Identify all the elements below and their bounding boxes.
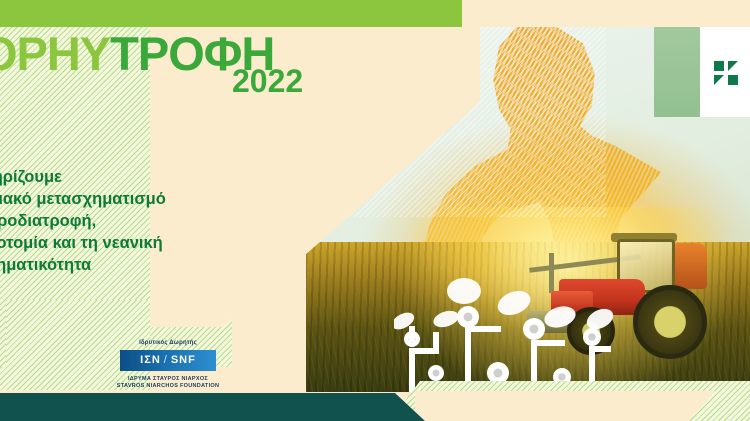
top-green-bar-tail [456, 0, 462, 27]
tagline-block: οστηρίζουμε ψηφιακό μετασχηματισμό ν αγρ… [0, 166, 166, 276]
tagline-line-4: καινοτομία και τη νεανική [0, 232, 166, 254]
founding-donor-block: Ιδρυτικός Δωρητής ΙΣΝ/SNF ΙΔΡΥΜΑ ΣΤΑΥΡΟΣ… [113, 340, 223, 389]
tagline-line-5: χειρηματικότητα [0, 254, 166, 276]
tagline-line-2: ψηφιακό μετασχηματισμό [0, 188, 166, 210]
tagline-line-3: ν αγροδιατροφή, [0, 210, 166, 232]
four-square-logo [714, 61, 738, 85]
agrophytrofi-2022-banner: ROPHYΤΡΟΦΗ 2022 οστηρίζουμε ψηφιακό μετα… [0, 0, 750, 421]
tagline-line-1: οστηρίζουμε [0, 166, 166, 188]
year-label: 2022 [232, 63, 303, 100]
snf-badge-greek: ΙΣΝ [140, 354, 161, 366]
brand-logo-box [700, 27, 750, 117]
donor-name-greek: ΙΔΡΥΜΑ ΣΤΑΥΡΟΣ ΝΙΑΡΧΟΣ [113, 376, 223, 382]
title-light-part: ROPHY [0, 27, 110, 80]
snf-logo-badge: ΙΣΝ/SNF [120, 350, 216, 371]
snf-badge-separator: / [161, 354, 171, 366]
donor-label: Ιδρυτικός Δωρητής [113, 340, 223, 346]
snf-badge-latin: SNF [171, 354, 196, 366]
top-green-bar [0, 0, 456, 27]
tractor-tank [671, 243, 707, 289]
bottom-teal-bar [0, 393, 425, 421]
donor-name-latin: STAVROS NIARCHOS FOUNDATION [113, 383, 223, 389]
digital-sprout-icons [394, 277, 624, 392]
bottom-cream-band [415, 391, 715, 421]
tractor-rear-wheel [633, 285, 707, 359]
